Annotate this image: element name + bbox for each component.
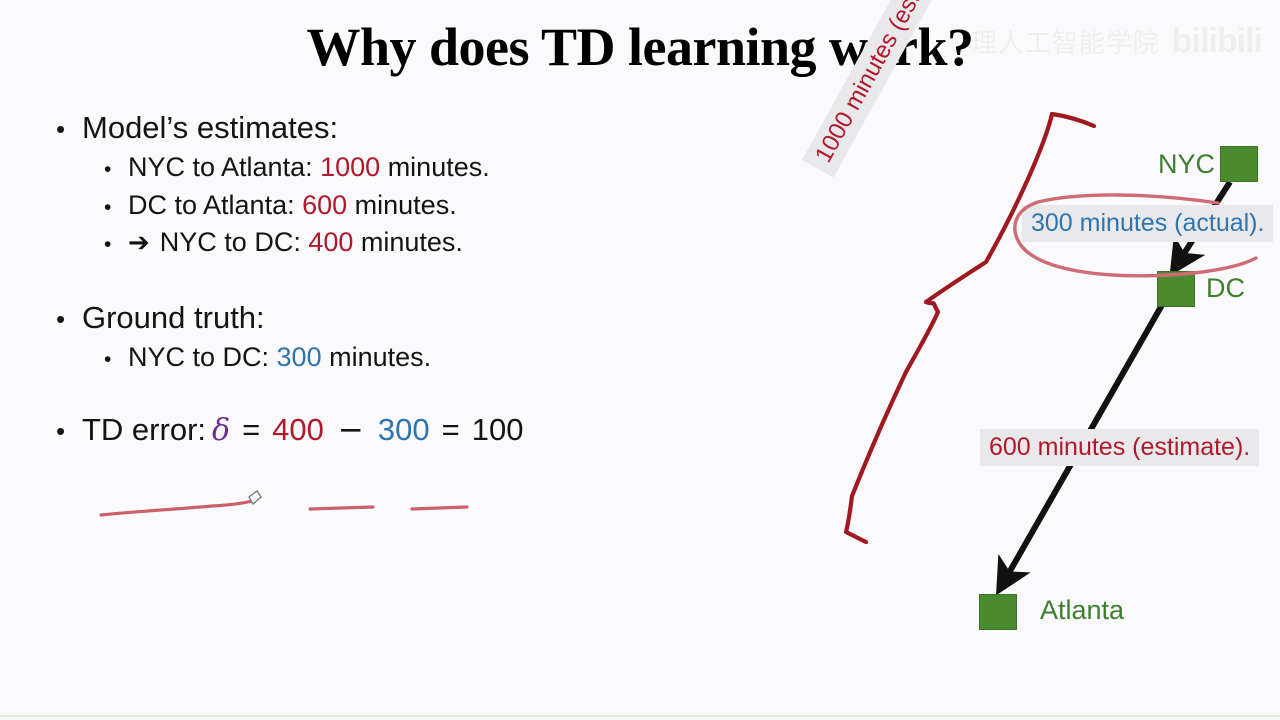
node-square-nyc	[1220, 146, 1258, 182]
edge-label-dc-atlanta-estimate: 600 minutes (estimate).	[980, 429, 1259, 466]
node-label-nyc: NYC	[1158, 149, 1215, 180]
edge-label-nyc-dc-actual: 300 minutes (actual).	[1022, 205, 1273, 242]
node-label-atlanta: Atlanta	[1040, 595, 1124, 626]
video-progress-bar[interactable]	[0, 715, 1280, 717]
slide-canvas: Why does TD learning work? 理人工智能学院 bilib…	[0, 0, 1280, 720]
node-label-dc: DC	[1206, 273, 1245, 304]
node-square-atlanta	[979, 594, 1017, 630]
route-diagram: NYC DC Atlanta 300 minutes (actual). 600…	[0, 0, 1280, 720]
video-progress-fill	[0, 715, 1280, 717]
node-square-dc	[1157, 271, 1195, 307]
